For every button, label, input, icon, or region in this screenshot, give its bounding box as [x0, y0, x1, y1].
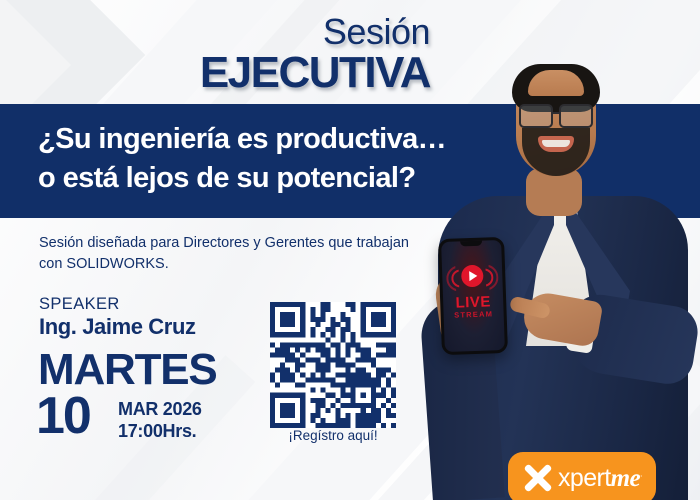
logo-word-italic: me — [611, 465, 640, 492]
date-weekday: MARTES — [38, 348, 217, 392]
glasses-lens-left — [519, 104, 553, 128]
x-mark-icon — [520, 461, 556, 495]
title-line-sesion: Sesión — [0, 14, 430, 50]
logo-word-main: xpert — [558, 464, 611, 492]
headline-line-1: ¿Su ingeniería es productiva… — [38, 123, 446, 155]
date-month-year: MAR 2026 — [118, 399, 202, 420]
play-icon — [461, 265, 484, 288]
poster-title: Sesión EJECUTIVA — [0, 14, 430, 95]
speaker-label: SPEAKER — [39, 295, 120, 314]
date-day-number: 10 — [36, 390, 90, 442]
stream-label: STREAM — [444, 310, 504, 320]
xpertme-logo[interactable]: xpertme. — [508, 452, 656, 500]
qr-caption: ¡Regístro aquí! — [270, 428, 396, 443]
description-text: Sesión diseñada para Directores y Gerent… — [39, 233, 409, 274]
qr-code[interactable] — [270, 302, 396, 428]
speaker-name: Ing. Jaime Cruz — [39, 314, 196, 340]
title-line-ejecutiva: EJECUTIVA — [0, 51, 430, 95]
date-time: 17:00Hrs. — [118, 421, 196, 442]
logo-wordmark: xpertme. — [558, 466, 642, 491]
glasses-lens-right — [559, 104, 593, 128]
glasses-bridge — [553, 112, 561, 114]
phone-screen: LIVE STREAM — [441, 240, 505, 352]
speaker-photo: LIVE STREAM — [418, 0, 700, 500]
glasses-icon — [518, 104, 594, 124]
promo-poster: Sesión EJECUTIVA ¿Su ingeniería es produ… — [0, 0, 700, 500]
live-label: LIVE — [443, 294, 503, 311]
smartphone: LIVE STREAM — [438, 237, 508, 355]
logo-trademark: . — [640, 468, 642, 478]
